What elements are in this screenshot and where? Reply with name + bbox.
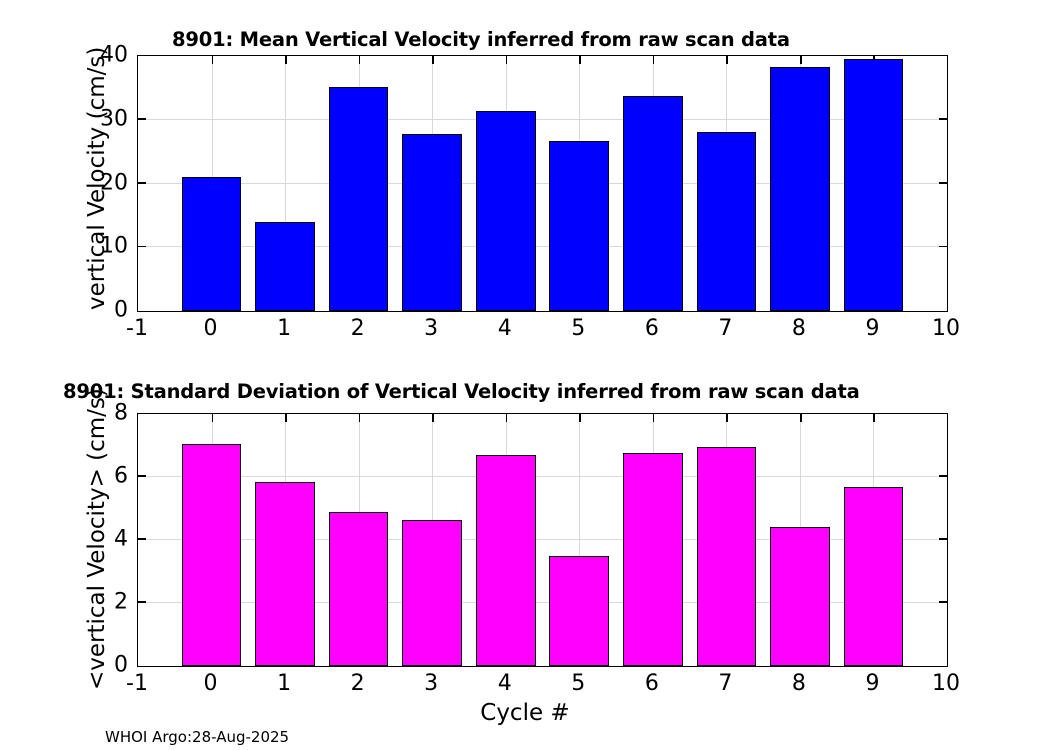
x-axis-ticklabel: -1 <box>126 671 148 696</box>
x-axis-ticklabels-std: -1012345678910 <box>137 671 948 699</box>
bar <box>476 111 536 311</box>
bar <box>697 132 757 311</box>
y-axis-tick <box>138 601 146 603</box>
y-axis-tick <box>939 601 947 603</box>
x-axis-ticklabel: 9 <box>865 316 879 341</box>
x-axis-ticklabel: 4 <box>498 671 512 696</box>
x-axis-tick <box>506 56 508 64</box>
y-axis-tick <box>138 538 146 540</box>
x-axis-tick <box>800 56 802 64</box>
x-axis-tick <box>653 414 655 422</box>
x-axis-ticklabel: 6 <box>645 316 659 341</box>
figure-canvas: 8901: Mean Vertical Velocity inferred fr… <box>0 0 1050 750</box>
y-axis-label-std: <vertical Velocity> (cm/s) <box>84 388 110 690</box>
bar <box>255 222 315 311</box>
plot-panel-mean <box>137 55 948 312</box>
y-axis-tick <box>138 182 146 184</box>
bar <box>255 482 315 666</box>
x-axis-ticklabel: 6 <box>645 671 659 696</box>
bar <box>182 444 242 666</box>
y-axis-tick <box>939 538 947 540</box>
gridline-horizontal <box>138 476 947 477</box>
y-axis-tick <box>939 246 947 248</box>
x-axis-tick <box>285 56 287 64</box>
chart-title-mean: 8901: Mean Vertical Velocity inferred fr… <box>172 28 790 51</box>
y-axis-tick <box>138 475 146 477</box>
bar <box>844 487 904 666</box>
x-axis-ticklabel: 0 <box>204 671 218 696</box>
bar <box>770 67 830 311</box>
bar <box>329 512 389 666</box>
y-axis-tick <box>939 182 947 184</box>
plot-area-std <box>138 414 947 666</box>
y-axis-tick <box>138 246 146 248</box>
x-axis-ticklabel: 8 <box>792 316 806 341</box>
x-axis-ticklabel: -1 <box>126 316 148 341</box>
x-axis-ticklabel: 10 <box>932 671 960 696</box>
x-axis-tick <box>726 414 728 422</box>
bar <box>549 556 609 666</box>
y-axis-ticklabel: 4 <box>114 527 128 552</box>
x-axis-ticklabel: 10 <box>932 316 960 341</box>
y-axis-ticklabel: 8 <box>114 401 128 426</box>
x-axis-tick <box>432 56 434 64</box>
bar <box>402 520 462 666</box>
x-axis-ticklabel: 2 <box>351 316 365 341</box>
x-axis-ticklabel: 2 <box>351 671 365 696</box>
x-axis-ticklabel: 5 <box>571 671 585 696</box>
x-axis-ticklabel: 1 <box>277 671 291 696</box>
x-axis-tick <box>285 414 287 422</box>
y-axis-tick <box>939 118 947 120</box>
x-axis-ticklabel: 0 <box>204 316 218 341</box>
x-axis-ticklabel: 8 <box>792 671 806 696</box>
chart-title-std: 8901: Standard Deviation of Vertical Vel… <box>63 380 860 403</box>
x-axis-ticklabels-mean: -1012345678910 <box>137 316 948 344</box>
x-axis-ticklabel: 5 <box>571 316 585 341</box>
bar <box>402 134 462 311</box>
x-axis-ticklabel: 3 <box>424 316 438 341</box>
bar <box>844 59 904 311</box>
x-axis-tick <box>432 414 434 422</box>
y-axis-ticklabel: 2 <box>114 590 128 615</box>
bar <box>476 455 536 666</box>
x-axis-tick <box>579 56 581 64</box>
x-axis-ticklabel: 1 <box>277 316 291 341</box>
x-axis-ticklabel: 4 <box>498 316 512 341</box>
x-axis-tick <box>800 414 802 422</box>
bar <box>623 96 683 311</box>
bar <box>697 447 757 666</box>
footer-credit: WHOI Argo:28-Aug-2025 <box>105 728 289 746</box>
y-axis-tick <box>138 118 146 120</box>
x-axis-ticklabel: 9 <box>865 671 879 696</box>
bar <box>329 87 389 311</box>
x-axis-ticklabel: 7 <box>718 671 732 696</box>
x-axis-tick <box>579 414 581 422</box>
x-axis-tick <box>726 56 728 64</box>
x-axis-tick <box>506 414 508 422</box>
x-axis-label-cycle: Cycle # <box>0 700 1050 726</box>
plot-area-mean <box>138 56 947 311</box>
bar <box>623 453 683 666</box>
x-axis-ticklabel: 7 <box>718 316 732 341</box>
x-axis-tick <box>873 414 875 422</box>
x-axis-tick <box>653 56 655 64</box>
x-axis-tick <box>359 56 361 64</box>
x-axis-tick <box>212 414 214 422</box>
x-axis-ticklabel: 3 <box>424 671 438 696</box>
y-axis-ticklabel: 6 <box>114 464 128 489</box>
x-axis-tick <box>359 414 361 422</box>
x-axis-tick <box>212 56 214 64</box>
bar <box>770 527 830 666</box>
bar <box>182 177 242 312</box>
y-axis-tick <box>939 475 947 477</box>
plot-panel-std <box>137 413 948 667</box>
bar <box>549 141 609 311</box>
y-axis-label-mean: vertical Velocity (cm/s) <box>84 47 110 310</box>
